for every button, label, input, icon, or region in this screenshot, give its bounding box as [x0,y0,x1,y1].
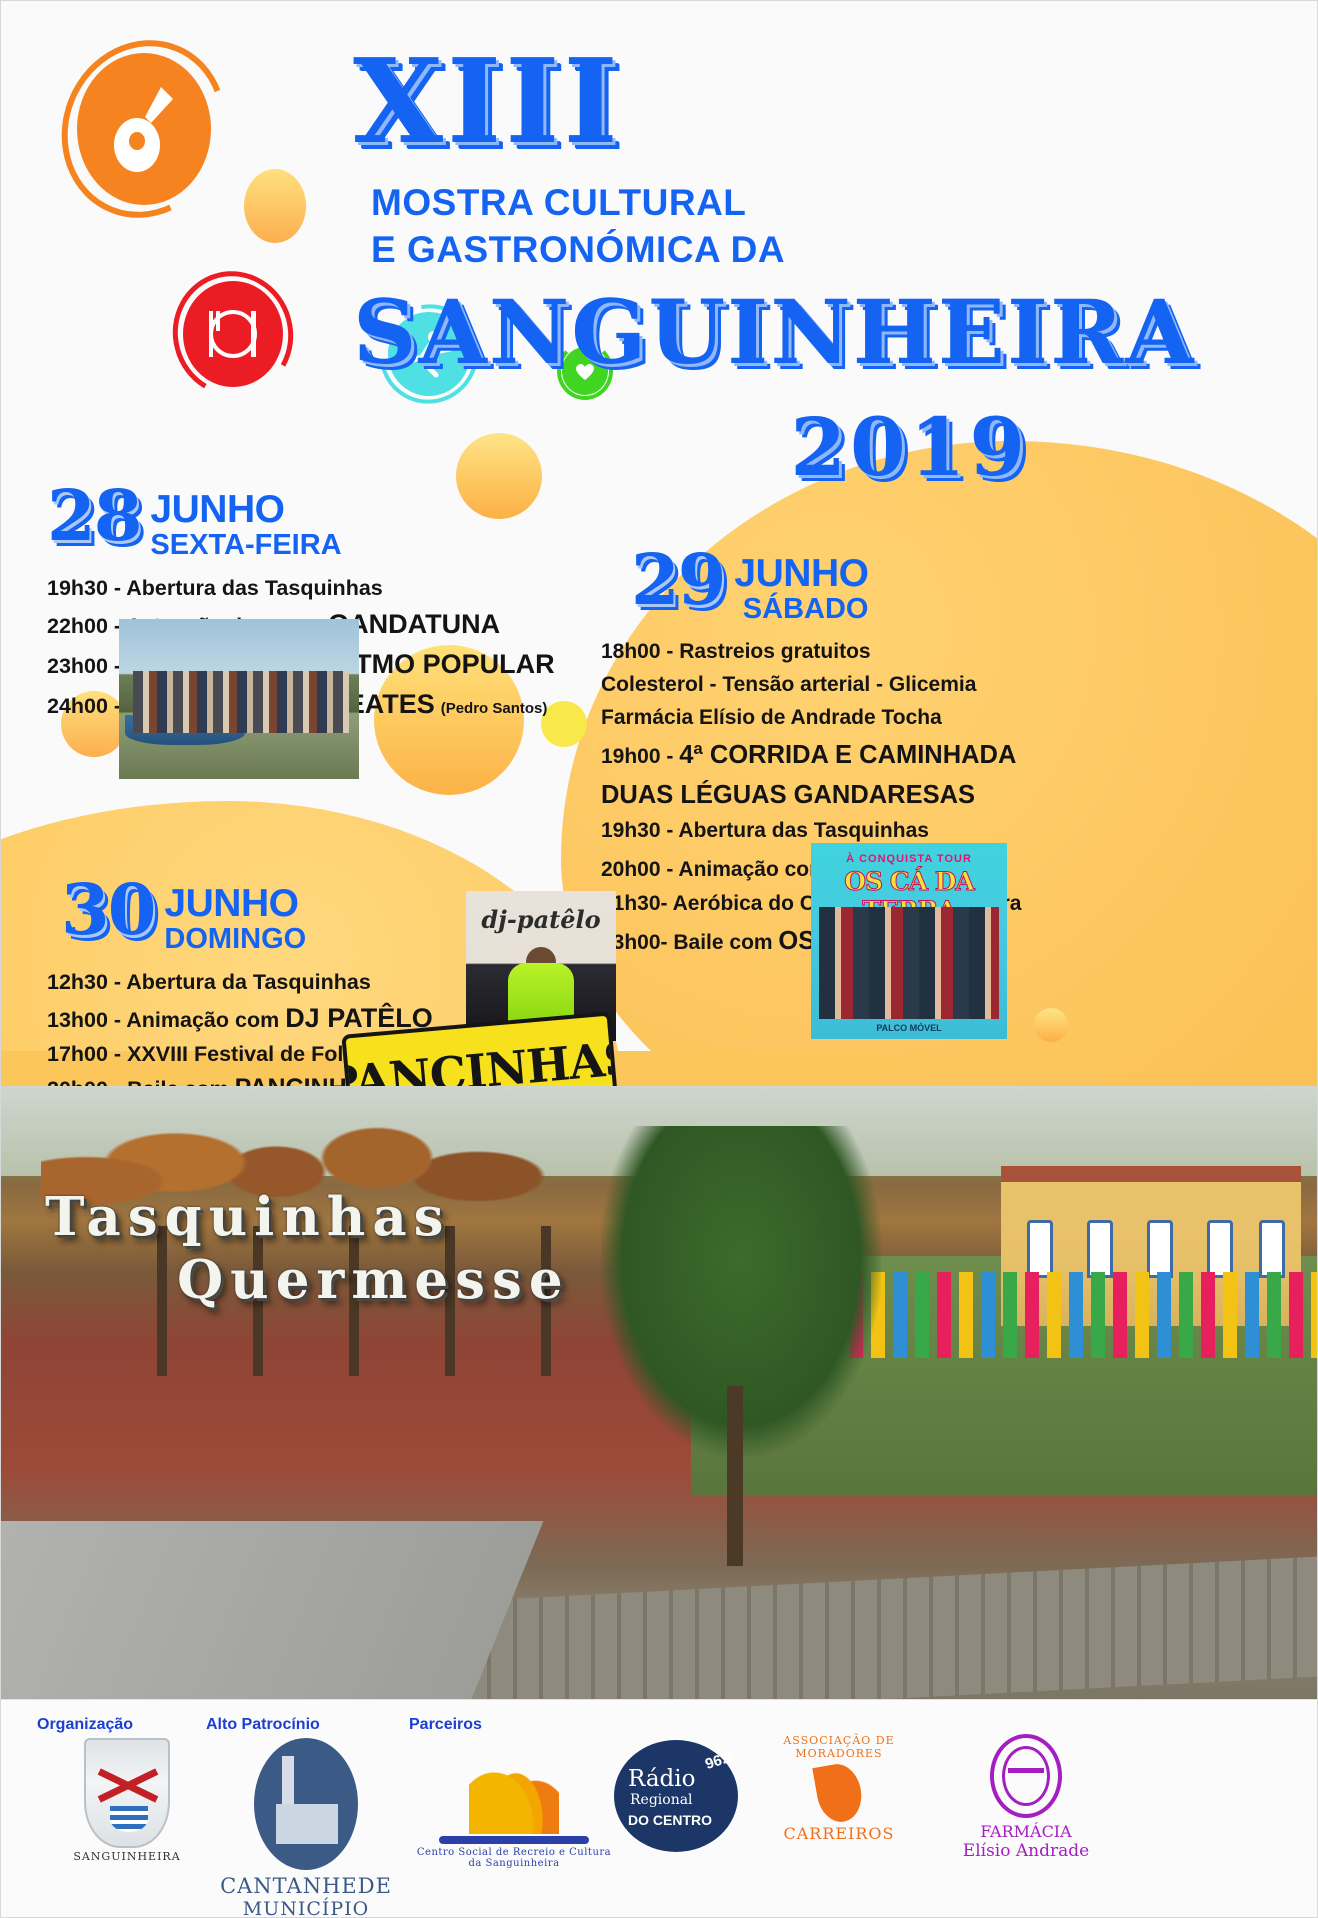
sponsor-associacao-carreiros: ASSOCIAÇÃO DE MORADORES CARREIROS [739,1734,939,1843]
program-text: 13h00 - Animação com [47,1008,285,1032]
sponsor-organizacao: Organização SANGUINHEIRA [37,1716,217,1863]
sponsor-name-line2: da Sanguinheira [409,1858,619,1869]
sponsor-farmacia-elisio-andrade: FARMÁCIA Elísio Andrade [926,1734,1126,1861]
decorative-dot [244,169,306,243]
carreiros-symbol-icon [812,1761,865,1826]
sponsor-name-line2: Elísio Andrade [926,1841,1126,1861]
dj-patelo-name: dj-patêlo [466,905,616,934]
day-month: JUNHO [150,491,341,528]
program-text: Colesterol - Tensão arterial - Glicemia [601,673,976,696]
csrc-flame-icon [469,1738,559,1834]
program-highlight: DUAS LÉGUAS GANDARESAS [601,781,975,809]
program-item: 19h30 - Abertura das Tasquinhas [47,572,587,604]
program-text: Farmácia Elísio de Andrade Tocha [601,706,942,729]
subtitle-line-2: E GASTRONÓMICA DA [371,229,785,270]
sponsor-name: SANGUINHEIRA [37,1850,217,1863]
guitar-icon [63,39,225,219]
edition-number: XIII [353,49,622,157]
day-number: 28 [47,487,140,544]
day-month: JUNHO [164,885,306,922]
sponsor-name-line2: MUNICÍPIO [206,1898,406,1918]
day-weekday: SEXTA-FEIRA [150,530,341,562]
band-photo [119,619,359,779]
year: 2019 [353,400,1053,494]
sponsor-arc-label: ASSOCIAÇÃO DE MORADORES [739,1734,939,1760]
program-item: Farmácia Elísio de Andrade Tocha [601,702,1071,735]
sponsor-alto-patrocinio: Alto Patrocínio CANTANHEDE MUNICÍPIO [206,1716,406,1918]
overlay-word-quermesse: Quermesse [177,1249,570,1311]
program-text: 19h30 - Abertura das Tasquinhas [47,576,383,600]
poster-title-block: XIII MOSTRA CULTURAL E GASTRONÓMICA DA S… [353,49,1053,494]
program-note: (Pedro Santos) [441,700,548,717]
event-poster: XIII MOSTRA CULTURAL E GASTRONÓMICA DA S… [0,0,1318,1918]
sponsor-name-line1: Rádio [628,1766,695,1792]
program-highlight: 4ª CORRIDA E CAMINHADA [679,741,1016,769]
day-number: 29 [631,551,724,608]
sponsor-category-label: Parceiros [409,1716,619,1734]
sanguinheira-crest-icon [84,1738,170,1848]
program-item: 18h00 - Rastreios gratuitos [601,636,1071,669]
cantanhede-building-icon [254,1738,358,1870]
day-weekday: SÁBADO [734,594,868,626]
radio-frequency: 96.2 [703,1748,736,1773]
program-text: 19h00 - [601,745,679,768]
day-month: JUNHO [734,555,868,592]
sponsor-name-line1: CANTANHEDE [206,1874,406,1898]
program-item: DUAS LÉGUAS GANDARESAS [601,775,1071,815]
place-name: SANGUINHEIRA [353,280,1053,384]
csrc-underline [439,1836,589,1844]
oscada-footer-label: PALCO MÓVEL [811,1023,1007,1033]
sponsor-category-label: Alto Patrocínio [206,1716,406,1734]
overlay-word-tasquinhas: Tasquinhas [45,1186,451,1248]
program-item: 19h00 - 4ª CORRIDA E CAMINHADA [601,735,1071,775]
sponsor-category-label: Organização [37,1716,217,1734]
sponsor-name-line1: FARMÁCIA [926,1822,1126,1841]
plate-cutlery-icon [173,271,293,397]
decorative-dot [1034,1008,1068,1042]
program-text: 19h30 - Abertura das Tasquinhas [601,819,929,842]
program-text: 23h00- Baile com [601,931,778,954]
os-ca-da-terra-photo: À CONQUISTA TOUR OS CÁ DA TERRA PALCO MÓ… [811,843,1007,1039]
farmacia-logo-icon [990,1734,1062,1818]
sponsors-footer: Organização SANGUINHEIRA Alto Patrocínio… [1,1699,1318,1917]
sponsor-name: CARREIROS [739,1824,939,1843]
oscada-tour-label: À CONQUISTA TOUR [811,853,1007,865]
landscape-photo [1,1086,1318,1701]
program-highlight: RITMO POPULAR [328,649,555,679]
program-text: 20h00 - Animação com [601,858,834,881]
radio-logo-icon: 96.2 Rádio Regional DO CENTRO [614,1740,738,1852]
sponsor-name-line3: DO CENTRO [628,1812,712,1828]
program-text: 12h30 - Abertura da Tasquinhas [47,970,371,994]
day-number: 30 [61,881,154,938]
day-weekday: DOMINGO [164,924,306,956]
day-heading: 29 JUNHO SÁBADO [631,551,1071,626]
day-heading: 28 JUNHO SEXTA-FEIRA [47,487,587,562]
poster-subtitle: MOSTRA CULTURAL E GASTRONÓMICA DA [371,179,785,274]
subtitle-line-1: MOSTRA CULTURAL [371,182,746,223]
program-item: Colesterol - Tensão arterial - Glicemia [601,669,1071,702]
program-text: 18h00 - Rastreios gratuitos [601,640,871,663]
sponsor-name-line2: Regional [630,1792,693,1808]
